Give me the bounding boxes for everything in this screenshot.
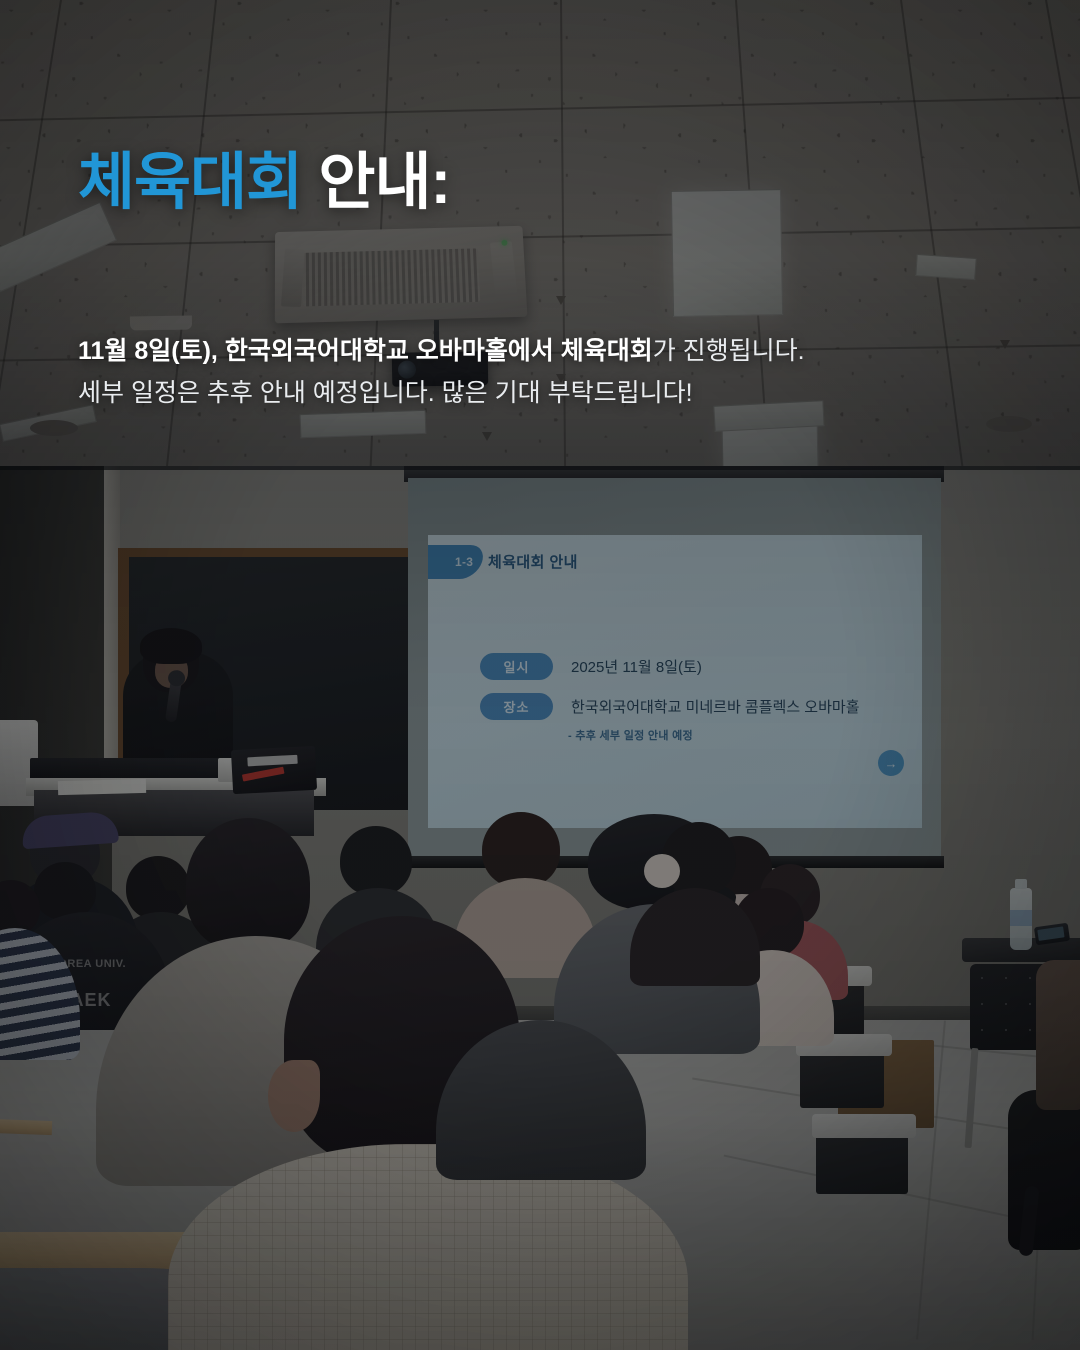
body-copy: 11월 8일(토), 한국외국어대학교 오바마홀에서 체육대회가 진행됩니다. … (78, 330, 805, 414)
body-line-1: 11월 8일(토), 한국외국어대학교 오바마홀에서 체육대회가 진행됩니다. (78, 330, 805, 372)
body-line-2-text: 세부 일정은 추후 안내 예정입니다. 많은 기대 부탁드립니다! (78, 379, 693, 407)
body-line-2: 세부 일정은 추후 안내 예정입니다. 많은 기대 부탁드립니다! (78, 372, 805, 414)
body-line-1-normal: 가 진행됩니다. (653, 337, 805, 365)
page-title-accent: 체육대회 (78, 148, 302, 217)
page-title: 체육대회 안내: (78, 152, 450, 214)
page-title-plain: 안내: (318, 148, 450, 217)
body-line-1-strong: 11월 8일(토), 한국외국어대학교 오바마홀에서 체육대회 (78, 337, 653, 365)
text-layer: 체육대회 안내: 11월 8일(토), 한국외국어대학교 오바마홀에서 체육대회… (0, 0, 1080, 1350)
poster-card: 1-3 체육대회 안내 일시 2025년 11월 8일(토) 장소 한국외국어대… (0, 0, 1080, 1350)
